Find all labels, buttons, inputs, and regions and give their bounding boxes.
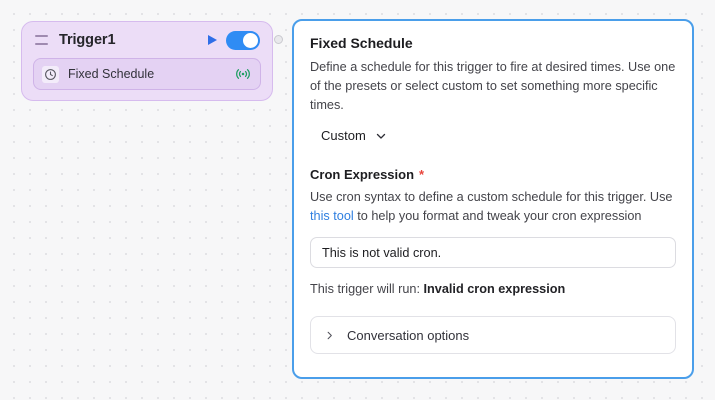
- chevron-right-icon: [324, 330, 335, 341]
- cron-help-prefix: Use cron syntax to define a custom sched…: [310, 190, 672, 204]
- broadcast-icon: [235, 67, 251, 81]
- trigger-node-title: Trigger1: [59, 32, 208, 48]
- trigger-node-header: Trigger1: [22, 22, 272, 58]
- drag-handle-icon[interactable]: [35, 35, 48, 45]
- chevron-down-icon: [375, 130, 387, 142]
- node-output-connector[interactable]: [274, 35, 283, 44]
- conversation-options-label: Conversation options: [347, 328, 469, 343]
- cron-tool-link[interactable]: this tool: [310, 209, 354, 223]
- cron-help-suffix: to help you format and tweak your cron e…: [354, 209, 642, 223]
- schedule-preset-select[interactable]: Custom: [321, 128, 387, 143]
- trigger-run-status: This trigger will run: Invalid cron expr…: [310, 282, 676, 296]
- trigger-node[interactable]: Trigger1 Fixed Schedule: [21, 21, 273, 101]
- cron-expression-input[interactable]: [310, 237, 676, 268]
- panel-description: Define a schedule for this trigger to fi…: [310, 58, 676, 115]
- cron-expression-label-row: Cron Expression *: [310, 167, 676, 182]
- cron-expression-label: Cron Expression: [310, 167, 414, 182]
- trigger-enabled-toggle[interactable]: [226, 31, 260, 50]
- play-icon[interactable]: [208, 35, 217, 45]
- run-status-value: Invalid cron expression: [424, 282, 566, 296]
- conversation-options-accordion[interactable]: Conversation options: [310, 316, 676, 354]
- clock-icon: [42, 66, 59, 83]
- trigger-node-subtitle: Fixed Schedule: [68, 67, 235, 81]
- schedule-preset-value: Custom: [321, 128, 366, 143]
- required-asterisk: *: [419, 168, 424, 181]
- cron-help-text: Use cron syntax to define a custom sched…: [310, 188, 676, 226]
- panel-title: Fixed Schedule: [310, 35, 676, 51]
- run-status-prefix: This trigger will run:: [310, 282, 424, 296]
- trigger-node-body[interactable]: Fixed Schedule: [33, 58, 261, 90]
- trigger-config-panel: Fixed Schedule Define a schedule for thi…: [292, 19, 694, 379]
